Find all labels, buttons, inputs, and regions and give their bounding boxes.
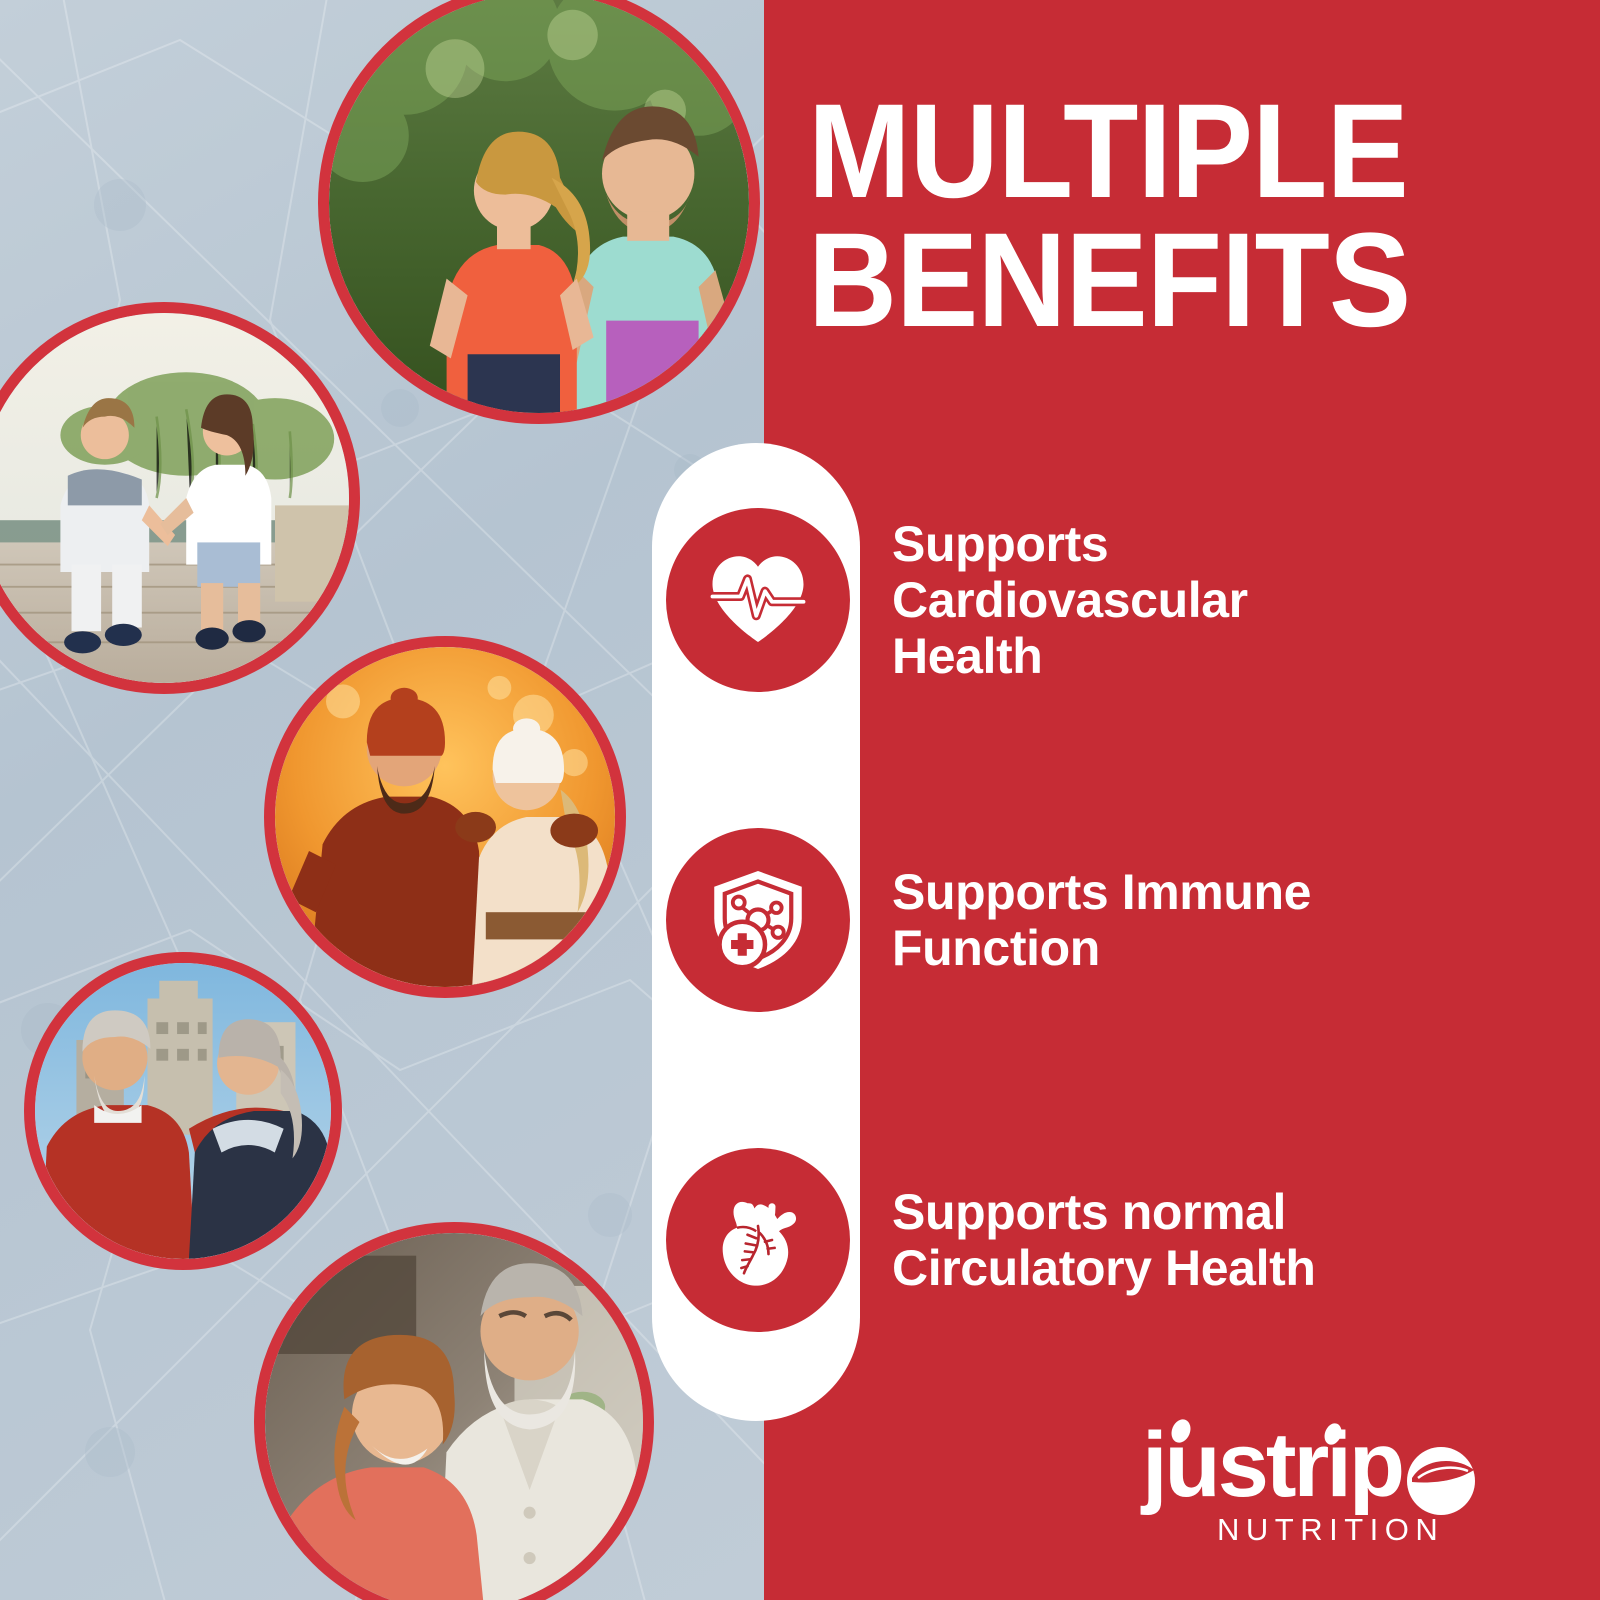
benefit-label-circulatory: Supports normal Circulatory Health <box>892 1184 1315 1296</box>
photo-couple-winter <box>264 636 626 998</box>
photo-jogging-couple-image <box>329 0 749 413</box>
photo-jogging-couple <box>318 0 760 424</box>
benefit-item-cardiovascular[interactable]: Supports Cardiovascular Health <box>666 508 1248 692</box>
logo-e-leaf-mark <box>1407 1447 1476 1515</box>
page-title: MULTIPLE BENEFITS <box>808 88 1535 345</box>
shield-immune-icon <box>666 828 850 1012</box>
headline-line-2: BENEFITS <box>808 217 1535 346</box>
photo-senior-couple-image <box>265 1233 643 1600</box>
heart-pulse-icon <box>666 508 850 692</box>
poster: MULTIPLE BENEFITS Supports Cardiovascula… <box>0 0 1600 1600</box>
headline-line-1: MULTIPLE <box>808 77 1408 226</box>
logo-tagline-text: NUTRITION <box>1217 1512 1444 1547</box>
benefit-item-circulatory[interactable]: Supports normal Circulatory Health <box>666 1148 1315 1332</box>
photo-mature-couple-city <box>24 952 342 1270</box>
benefit-label-cardiovascular: Supports Cardiovascular Health <box>892 516 1248 684</box>
photo-senior-couple <box>254 1222 654 1600</box>
brand-logo[interactable]: justrip NUTRITION <box>1140 1418 1510 1558</box>
photo-couple-winter-image <box>275 647 615 987</box>
benefit-label-immune: Supports Immune Function <box>892 864 1311 976</box>
photo-couple-boardwalk-image <box>0 313 349 683</box>
benefit-item-immune[interactable]: Supports Immune Function <box>666 828 1311 1012</box>
anatomical-heart-icon <box>666 1148 850 1332</box>
photo-mature-couple-city-image <box>35 963 331 1259</box>
